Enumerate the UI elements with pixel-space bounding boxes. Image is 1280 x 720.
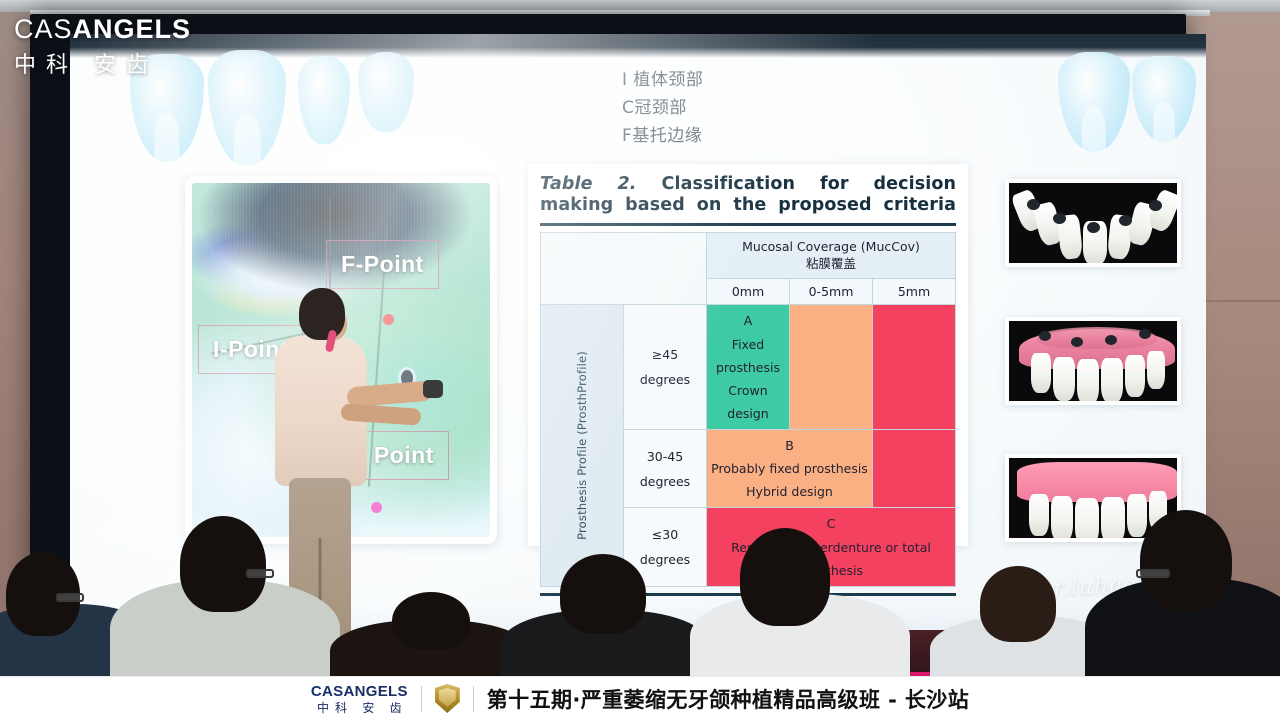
footer-brand-logo: CASANGELS 中科 安 齿 [311, 684, 408, 714]
slide-bullet-3: F基托边缘 [622, 122, 703, 150]
footer-banner: CASANGELS 中科 安 齿 第十五期·严重萎缩无牙颌种植精品高级班 - 长… [0, 676, 1280, 720]
overlay-brand-cn: 中科 安齿 [14, 47, 191, 79]
footer-course-title: 第十五期·严重萎缩无牙颌种植精品高级班 - 长沙站 [487, 684, 969, 714]
table-row-ge45: Prosthesis Profile (ProsthProfile) ≥45 d… [541, 305, 956, 430]
table-top-rule [540, 223, 956, 226]
column-header-0mm: 0mm [707, 279, 790, 305]
cell-class-b: B Probably fixed prosthesis Hybrid desig… [707, 430, 873, 508]
cell-a-line1: Fixed prosthesis [709, 333, 787, 379]
footer-brand-part1: CAS [311, 683, 344, 700]
screen-top-shadow [70, 34, 1206, 58]
overlay-brand-part2: ANGELS [73, 14, 192, 44]
overlay-brand-latin: CASANGELS [14, 14, 191, 45]
right-photo-1 [1005, 179, 1181, 267]
table-corner-blank [541, 232, 707, 305]
column-header-0-5mm: 0-5mm [790, 279, 873, 305]
slide-bullet-2: C冠颈部 [622, 94, 703, 122]
slide-bullet-list: I 植体颈部 C冠颈部 F基托边缘 [622, 66, 703, 150]
footer-divider-1 [421, 686, 422, 712]
audience-head-4 [560, 554, 646, 634]
audience-glasses-7 [1136, 569, 1170, 578]
footer-brand-latin: CASANGELS [311, 684, 408, 699]
marker-dot-red [383, 314, 394, 325]
cell-ge45-5mm [873, 305, 956, 430]
footer-brand-cn: 中科 安 齿 [317, 702, 408, 714]
audience-foreground [0, 500, 1280, 690]
footer-divider-2 [473, 686, 474, 712]
presenter-clicker [423, 380, 443, 398]
row-header-30-45: 30-45 degrees [624, 430, 707, 508]
audience-head-5 [740, 528, 830, 626]
cell-a-line2: Crown design [709, 379, 787, 425]
audience-head-6 [980, 566, 1056, 642]
audience-head-3 [392, 592, 470, 650]
table-header-row-1: Mucosal Coverage (MucCov) 粘膜覆盖 [541, 232, 956, 279]
audience-glasses-2 [246, 569, 274, 578]
table-title: Table 2. Classification for decision mak… [540, 174, 956, 217]
cell-a-letter: A [709, 309, 787, 332]
label-f-point: F-Point [326, 240, 439, 289]
column-header-5mm: 5mm [873, 279, 956, 305]
row-header-ge45: ≥45 degrees [624, 305, 707, 430]
footer-brand-part2: ANGELS [343, 683, 407, 700]
overlay-brand-watermark: CASANGELS 中科 安齿 [14, 14, 191, 79]
column-axis-title-en: Mucosal Coverage (MucCov) [709, 239, 953, 256]
column-axis-title: Mucosal Coverage (MucCov) 粘膜覆盖 [707, 232, 956, 279]
cell-ge45-0-5mm [790, 305, 873, 430]
audience-head-7 [1140, 510, 1232, 610]
cell-30-45-5mm [873, 430, 956, 508]
audience-head-2 [180, 516, 266, 612]
slide-bullet-1: I 植体颈部 [622, 66, 703, 94]
overlay-brand-part1: CAS [14, 14, 73, 44]
column-axis-title-cn: 粘膜覆盖 [709, 256, 953, 273]
right-photo-2 [1005, 317, 1181, 405]
cell-b-letter: B [709, 434, 870, 457]
table-title-label: Table 2. [540, 174, 637, 194]
conference-room-scene: I 植体颈部 C冠颈部 F基托边缘 F-Point I-Point Point [0, 0, 1280, 720]
shield-icon [435, 684, 460, 713]
table-2-card: Table 2. Classification for decision mak… [528, 164, 968, 546]
cell-b-line1: Probably fixed prosthesis [709, 457, 870, 480]
audience-glasses-1 [56, 593, 84, 602]
cell-class-a: A Fixed prosthesis Crown design [707, 305, 790, 430]
